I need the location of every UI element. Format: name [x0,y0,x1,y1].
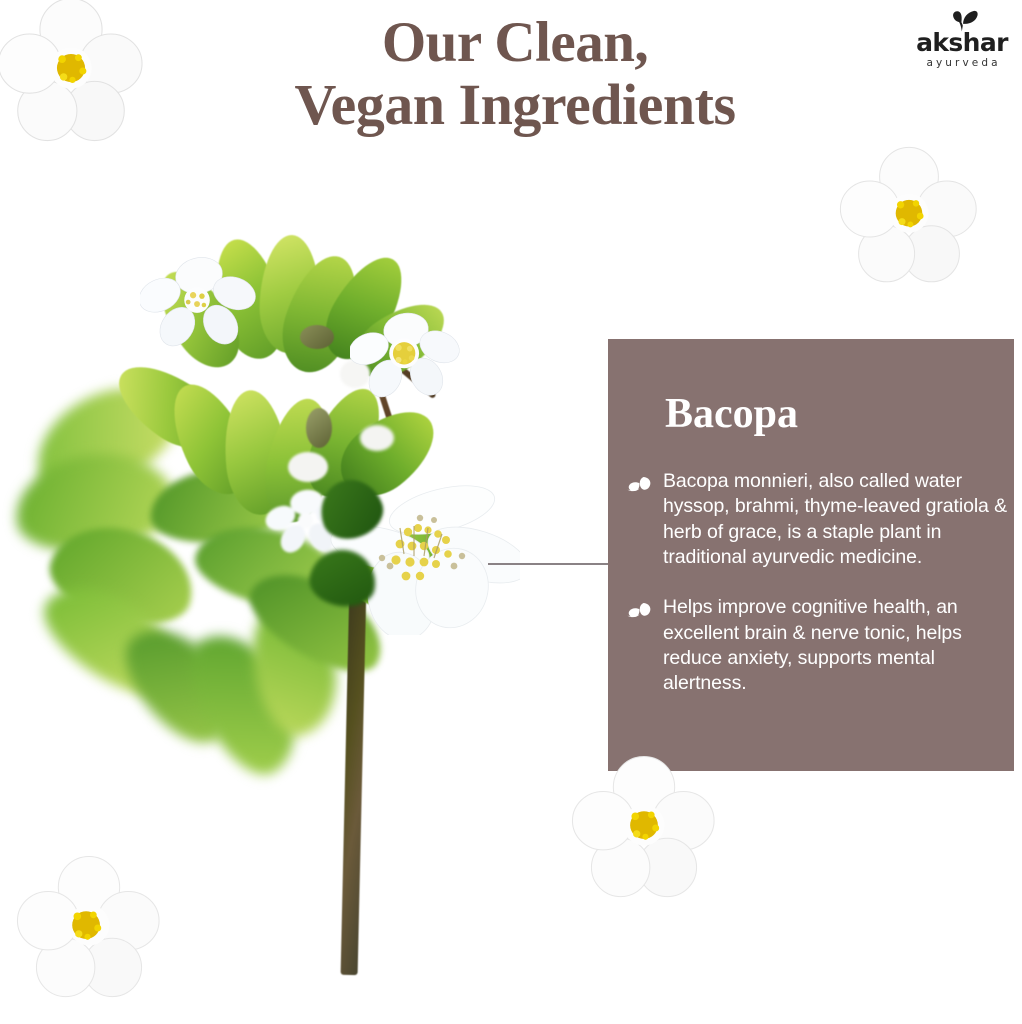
leaf-bullet-icon [627,475,655,500]
page-title-line-1: Our Clean, [170,12,860,74]
poster-canvas: Bacopa Bacopa monnieri, also called wate… [0,0,1022,1024]
brand-tagline: ayurveda [908,57,1016,69]
ingredient-bullet-list: Bacopa monnieri, also called water hysso… [621,469,1013,722]
ingredient-name: Bacopa [665,393,798,435]
list-item-text: Bacopa monnieri, also called water hysso… [663,469,1013,570]
flower-icon [838,146,980,286]
bacopa-flower-decoration [570,755,718,901]
list-item: Bacopa monnieri, also called water hysso… [621,469,1013,570]
flower-icon [15,855,163,1001]
bacopa-flower-decoration [838,146,980,286]
page-title-line-2: Vegan Ingredients [170,74,860,137]
list-item-text: Helps improve cognitive health, an excel… [663,595,1013,696]
ingredient-info-panel: Bacopa Bacopa monnieri, also called wate… [608,339,1014,771]
brand-name: akshar [908,30,1016,55]
list-item: Helps improve cognitive health, an excel… [621,595,1013,696]
bacopa-flower-decoration [0,0,147,145]
callout-connector-line [488,563,610,565]
flower-bud [300,325,334,349]
bacopa-flower-decoration [15,855,163,1001]
flower-bud [306,408,332,448]
plant-blossom [350,308,462,408]
brand-logo[interactable]: akshar ayurveda [908,8,1016,74]
leaf-bullet-icon [627,601,655,626]
flower-icon [0,0,147,145]
plant-blossom [140,255,258,355]
flower-icon [570,755,718,901]
page-title: Our Clean, Vegan Ingredients [170,12,860,136]
flower-bud [288,452,328,482]
flower-bud [360,425,394,451]
